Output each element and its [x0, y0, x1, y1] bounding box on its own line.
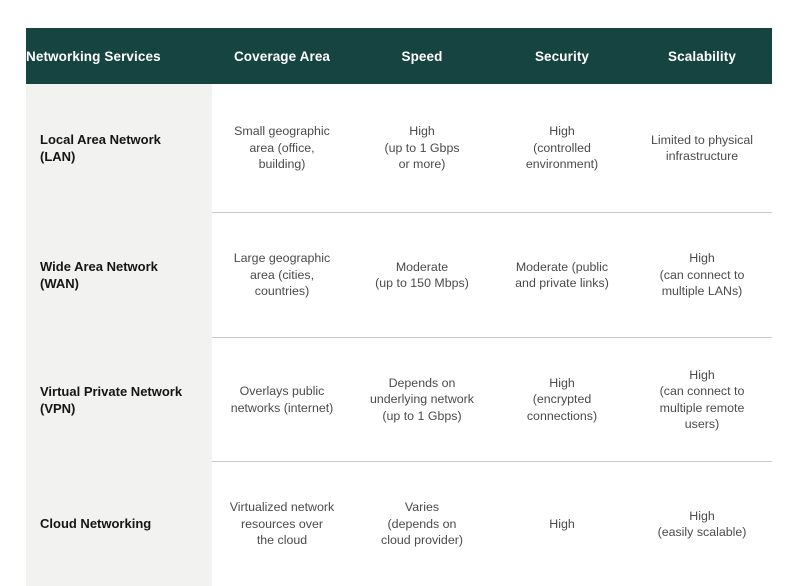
cell-text: High (can connect to multiple LANs) — [642, 250, 762, 300]
cell-security: High (controlled environment) — [492, 84, 632, 213]
column-header-speed: Speed — [352, 28, 492, 84]
cell-service-name: Virtual Private Network (VPN) — [26, 338, 212, 462]
cell-text: High (can connect to multiple remote use… — [642, 367, 762, 433]
cell-text: Small geographic area (office, building) — [222, 123, 342, 173]
cell-text: Overlays public networks (internet) — [222, 383, 342, 416]
cell-text: Local Area Network (LAN) — [40, 131, 204, 165]
cell-speed: High (up to 1 Gbps or more) — [352, 84, 492, 213]
cell-text: Virtualized network resources over the c… — [222, 499, 342, 549]
cell-service-name: Cloud Networking — [26, 462, 212, 586]
cell-text: Limited to physical infrastructure — [642, 132, 762, 165]
cell-scalability: High (easily scalable) — [632, 462, 772, 586]
column-header-coverage-area: Coverage Area — [212, 28, 352, 84]
cell-coverage-area: Overlays public networks (internet) — [212, 338, 352, 462]
cell-scalability: High (can connect to multiple LANs) — [632, 213, 772, 338]
cell-security: High — [492, 462, 632, 586]
cell-coverage-area: Small geographic area (office, building) — [212, 84, 352, 213]
cell-text: High (controlled environment) — [502, 123, 622, 173]
networking-services-comparison-table: Networking Services Coverage Area Speed … — [26, 28, 772, 586]
cell-security: Moderate (public and private links) — [492, 213, 632, 338]
cell-speed: Moderate (up to 150 Mbps) — [352, 213, 492, 338]
cell-service-name: Local Area Network (LAN) — [26, 84, 212, 213]
cell-scalability: High (can connect to multiple remote use… — [632, 338, 772, 462]
table-row: Wide Area Network (WAN) Large geographic… — [26, 213, 772, 338]
table-body: Local Area Network (LAN) Small geographi… — [26, 84, 772, 586]
table-header-row: Networking Services Coverage Area Speed … — [26, 28, 772, 84]
column-header-scalability: Scalability — [632, 28, 772, 84]
cell-text: High (encrypted connections) — [502, 375, 622, 425]
table-row: Local Area Network (LAN) Small geographi… — [26, 84, 772, 213]
table-header: Networking Services Coverage Area Speed … — [26, 28, 772, 84]
column-header-networking-services: Networking Services — [26, 28, 212, 84]
cell-service-name: Wide Area Network (WAN) — [26, 213, 212, 338]
cell-text: Moderate (public and private links) — [502, 259, 622, 292]
cell-text: High (up to 1 Gbps or more) — [362, 123, 482, 173]
cell-text: Virtual Private Network (VPN) — [40, 383, 204, 417]
cell-text: High (easily scalable) — [642, 508, 762, 541]
cell-speed: Varies (depends on cloud provider) — [352, 462, 492, 586]
table-row: Virtual Private Network (VPN) Overlays p… — [26, 338, 772, 462]
column-header-security: Security — [492, 28, 632, 84]
cell-security: High (encrypted connections) — [492, 338, 632, 462]
cell-text: Large geographic area (cities, countries… — [222, 250, 342, 300]
cell-text: Cloud Networking — [40, 515, 204, 532]
cell-coverage-area: Large geographic area (cities, countries… — [212, 213, 352, 338]
table-row: Cloud Networking Virtualized network res… — [26, 462, 772, 586]
cell-coverage-area: Virtualized network resources over the c… — [212, 462, 352, 586]
cell-scalability: Limited to physical infrastructure — [632, 84, 772, 213]
cell-text: Depends on underlying network (up to 1 G… — [362, 375, 482, 425]
cell-text: Varies (depends on cloud provider) — [362, 499, 482, 549]
cell-text: Wide Area Network (WAN) — [40, 258, 204, 292]
page-root: Networking Services Coverage Area Speed … — [0, 0, 800, 512]
cell-text: High — [502, 516, 622, 533]
cell-speed: Depends on underlying network (up to 1 G… — [352, 338, 492, 462]
cell-text: Moderate (up to 150 Mbps) — [362, 259, 482, 292]
